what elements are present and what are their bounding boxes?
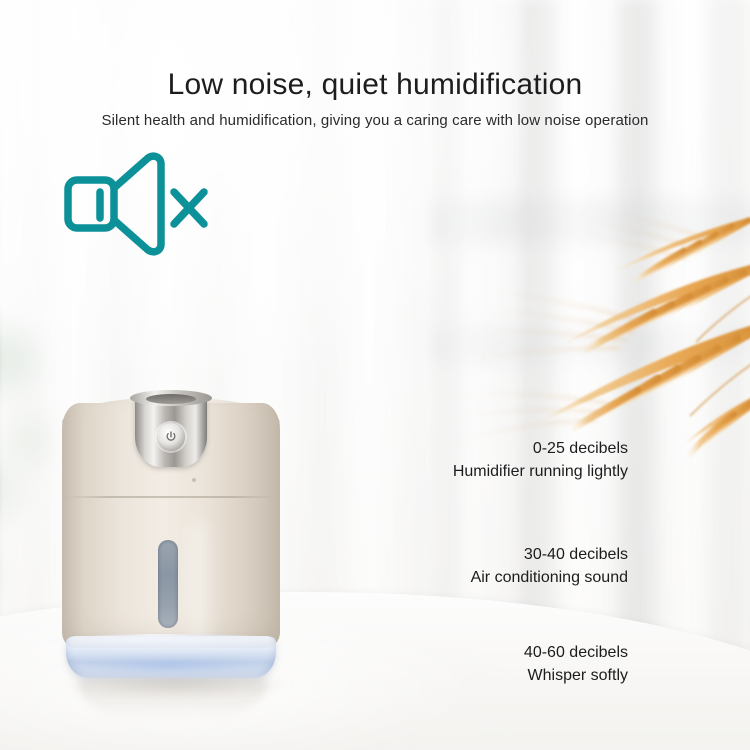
product-sensor-dot	[192, 478, 196, 482]
mute-speaker-icon	[62, 152, 212, 262]
page-subtitle: Silent health and humidification, giving…	[0, 112, 750, 129]
nozzle-opening	[146, 394, 196, 404]
callout-description: Air conditioning sound	[328, 566, 628, 589]
base-led-glow	[86, 658, 256, 672]
callout-description: Whisper softly	[328, 664, 628, 687]
callout-level: 30-40 decibels	[328, 543, 628, 566]
page-title: Low noise, quiet humidification	[0, 68, 750, 102]
cross-mark-icon	[174, 192, 204, 224]
callout-decibel-2: 30-40 decibels Air conditioning sound	[328, 543, 628, 589]
callout-level: 0-25 decibels	[328, 437, 628, 460]
callout-decibel-1: 0-25 decibels Humidifier running lightly	[328, 437, 628, 483]
water-level-window	[158, 540, 178, 628]
product-highlight	[190, 523, 216, 643]
callout-decibel-3: 40-60 decibels Whisper softly	[328, 641, 628, 687]
power-symbol-icon	[164, 430, 178, 444]
humidifier-product	[62, 393, 280, 678]
power-button[interactable]	[157, 423, 185, 451]
product-seam-line	[66, 496, 276, 498]
callout-description: Humidifier running lightly	[328, 460, 628, 483]
product-banner: Low noise, quiet humidification Silent h…	[0, 0, 750, 750]
callout-level: 40-60 decibels	[328, 641, 628, 664]
